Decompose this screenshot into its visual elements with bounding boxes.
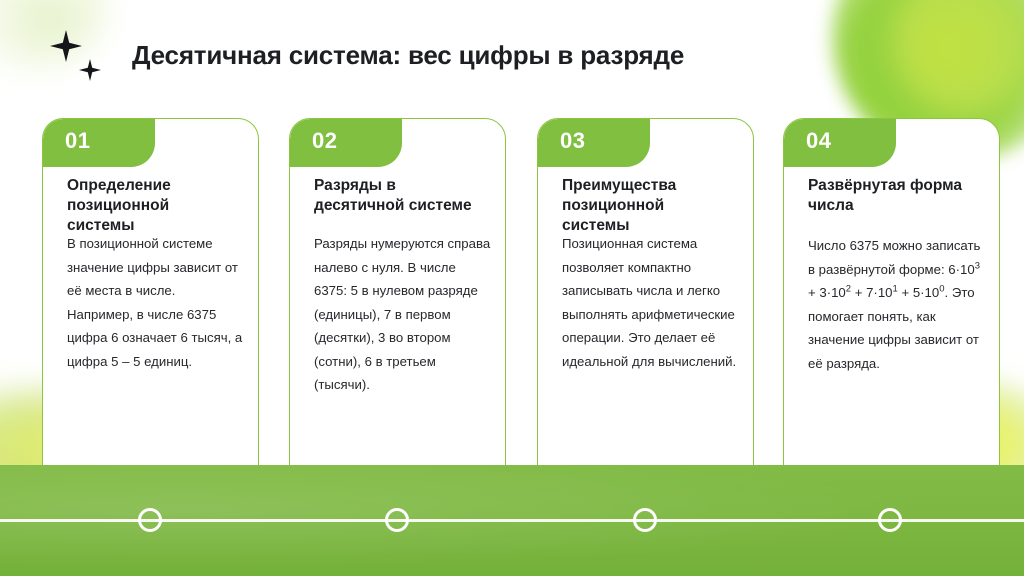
card-body-text: В позиционной системе значение цифры зав… [67, 232, 245, 373]
card-body-text: Разряды нумеруются справа налево с нуля.… [314, 232, 492, 397]
card-title: Разряды в десятичной системе [314, 176, 486, 216]
card-number-label: 03 [560, 128, 585, 154]
card-number-badge: 02 [290, 119, 402, 167]
page-title: Десятичная система: вес цифры в разряде [132, 40, 684, 71]
info-card-04[interactable]: 04 Развёрнутая форма числа Число 6375 мо… [783, 118, 1000, 486]
info-card-03[interactable]: 03 Преимущества позиционной системы Пози… [537, 118, 754, 486]
card-number-label: 02 [312, 128, 337, 154]
sparkle-decoration-group [46, 28, 116, 88]
card-number-label: 01 [65, 128, 90, 154]
card-row: 01 Определение позиционной системы В поз… [0, 118, 1024, 488]
slide-canvas: Десятичная система: вес цифры в разряде … [0, 0, 1024, 576]
card-number-label: 04 [806, 128, 831, 154]
card-number-badge: 04 [784, 119, 896, 167]
card-body-text: Позиционная система позволяет компактно … [562, 232, 740, 373]
timeline-marker-3[interactable] [633, 508, 657, 532]
info-card-01[interactable]: 01 Определение позиционной системы В поз… [42, 118, 259, 486]
card-number-badge: 03 [538, 119, 650, 167]
sparkle-small-icon [79, 59, 101, 81]
card-number-badge: 01 [43, 119, 155, 167]
sparkle-large-icon [50, 30, 82, 62]
card-title: Преимущества позиционной системы [562, 176, 734, 235]
card-title: Развёрнутая форма числа [808, 176, 980, 216]
info-card-02[interactable]: 02 Разряды в десятичной системе Разряды … [289, 118, 506, 486]
card-title: Определение позиционной системы [67, 176, 239, 235]
timeline-marker-2[interactable] [385, 508, 409, 532]
timeline-marker-1[interactable] [138, 508, 162, 532]
timeline-marker-4[interactable] [878, 508, 902, 532]
card-body-text: Число 6375 можно записать в развёрнутой … [808, 234, 986, 375]
decorative-blob-top-right-highlight [890, 0, 1024, 116]
